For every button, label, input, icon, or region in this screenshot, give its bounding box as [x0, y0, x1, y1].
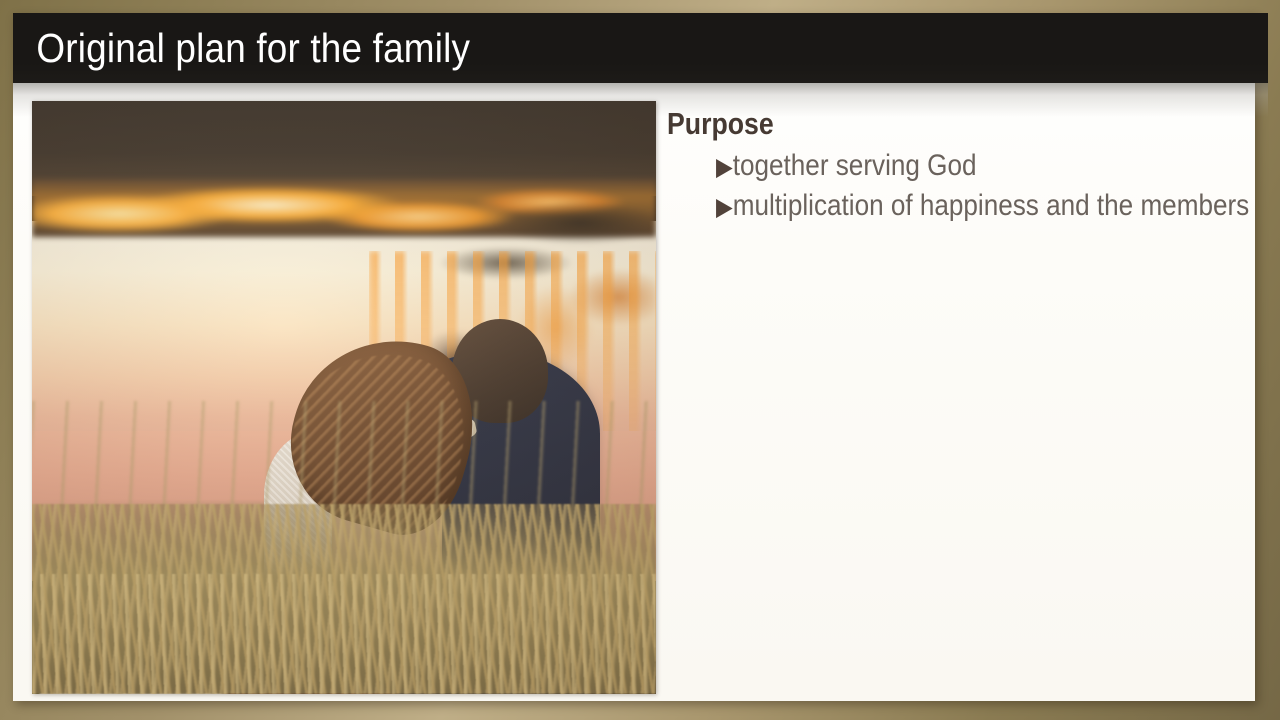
list-item: ▶ together serving God [716, 148, 1192, 185]
triangle-bullet-icon: ▶ [716, 195, 733, 220]
list-item: ▶ multiplication of happiness and the me… [716, 188, 1192, 225]
slide-content-canvas: Original plan for the family [13, 13, 1255, 701]
photo-illustration [32, 101, 656, 694]
content-text-column: Purpose ▶ together serving God ▶ multipl… [667, 108, 1263, 227]
page-title: Original plan for the family [13, 28, 470, 69]
slide-title-banner: Original plan for the family [13, 13, 1268, 83]
wedding-couple-photo [32, 101, 656, 694]
purpose-heading: Purpose [667, 108, 1180, 139]
photo-grass-highlights [32, 574, 656, 694]
bullet-label-multiplication-of-happiness: multiplication of happiness and the memb… [733, 188, 1249, 225]
triangle-bullet-icon: ▶ [716, 155, 733, 180]
bullet-label-together-serving-god: together serving God [733, 148, 977, 185]
slide-frame: Original plan for the family [0, 0, 1280, 720]
